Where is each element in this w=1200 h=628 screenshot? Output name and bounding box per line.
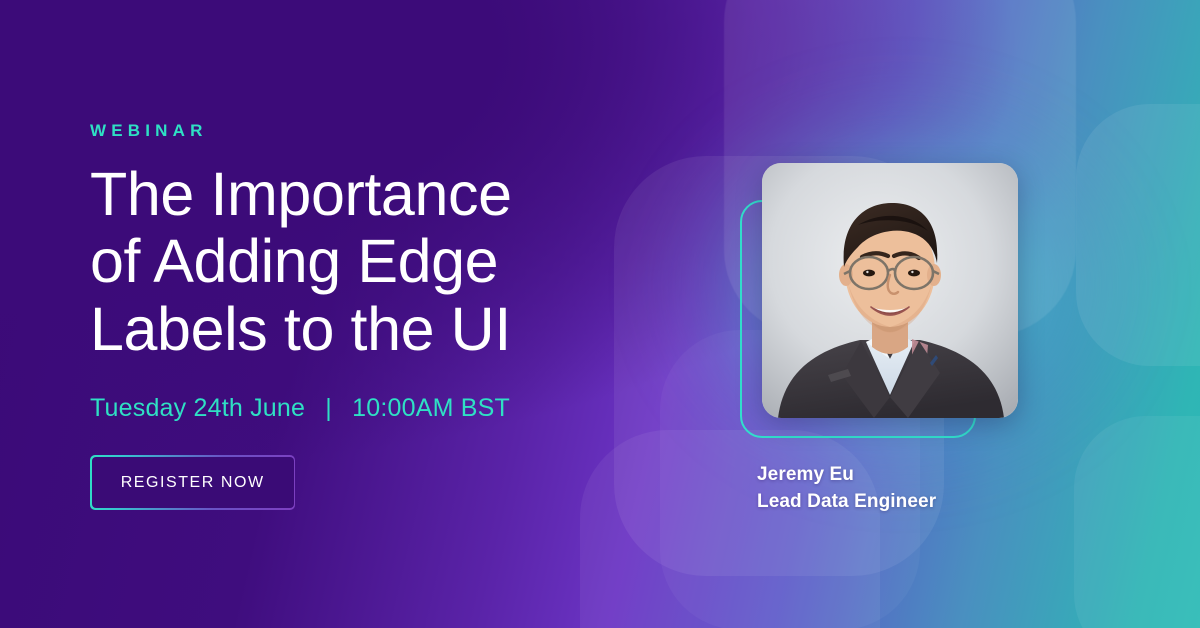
content-column: WEBINAR The Importance of Adding Edge La…	[90, 122, 610, 510]
register-now-button[interactable]: REGISTER NOW	[92, 457, 294, 508]
eyebrow-label: WEBINAR	[90, 122, 610, 139]
speaker-name: Jeremy Eu	[757, 462, 936, 489]
webinar-promo-banner: WEBINAR The Importance of Adding Edge La…	[0, 0, 1200, 628]
speaker-info: Jeremy Eu Lead Data Engineer	[757, 462, 936, 516]
datetime-separator: |	[312, 393, 345, 423]
background-shape-right-low	[1074, 416, 1200, 628]
event-date: Tuesday 24th June	[90, 394, 305, 422]
background-shape-right-top	[1076, 104, 1200, 366]
speaker-title: Lead Data Engineer	[757, 489, 936, 516]
register-button-border: REGISTER NOW	[90, 455, 295, 509]
event-datetime: Tuesday 24th June | 10:00AM BST	[90, 393, 610, 423]
event-time: 10:00AM BST	[352, 394, 510, 422]
speaker-photo	[762, 163, 1018, 418]
page-title: The Importance of Adding Edge Labels to …	[90, 161, 610, 363]
